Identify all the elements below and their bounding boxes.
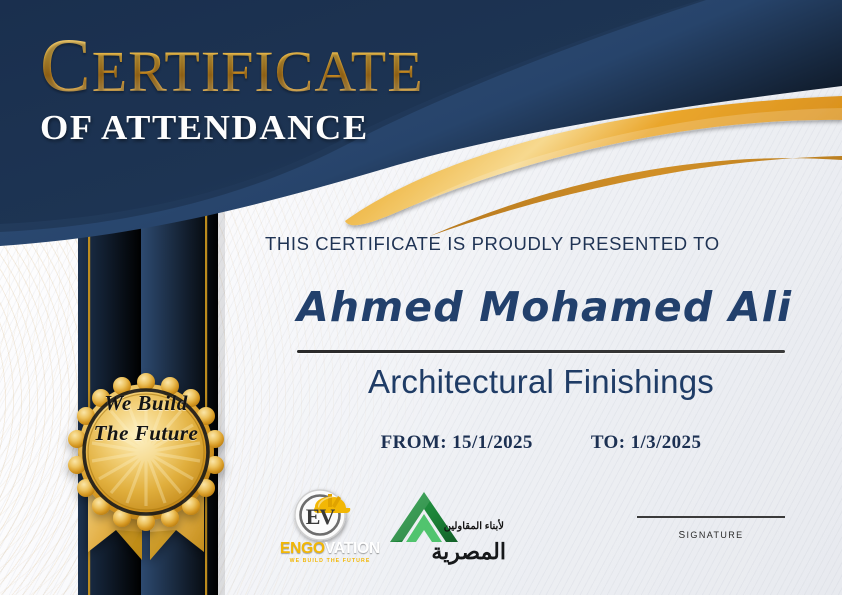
title-certificate: CERTIFICATE (40, 28, 424, 104)
logo-row: ENGOVATION WE BUILD THE FUTURE لأبناء ال… (278, 483, 504, 567)
certificate-heading: CERTIFICATE OF ATTENDANCE (40, 28, 424, 148)
engovation-wordmark-part2: VATION (325, 540, 380, 557)
engovation-wordmark-part1: ENGO (280, 540, 325, 557)
elmasreya-arabic-large: المصرية (431, 541, 506, 563)
presented-to-label: THIS CERTIFICATE IS PROUDLY PRESENTED TO (265, 233, 720, 255)
course-title: Architectural Finishings (297, 363, 785, 401)
engovation-logo: ENGOVATION WE BUILD THE FUTURE (278, 483, 382, 567)
course-dates: FROM: 15/1/2025 TO: 1/3/2025 (297, 432, 785, 454)
seal-motto-line2: The Future (66, 418, 226, 448)
signature-line (637, 516, 785, 518)
seal-motto-line1: We Build (66, 388, 226, 418)
recipient-name-underline (297, 350, 785, 353)
engovation-tagline: WE BUILD THE FUTURE (278, 558, 382, 564)
title-dropcap: C (40, 24, 92, 108)
engovation-wordmark: ENGOVATION (278, 541, 382, 557)
title-certificate-rest: ERTIFICATE (92, 39, 424, 104)
elmasreya-arabic-small: لأبناء المقاولين (444, 521, 504, 532)
title-of-attendance: OF ATTENDANCE (40, 108, 439, 148)
recipient-name: Ahmed Mohamed Ali (297, 283, 787, 331)
date-from: FROM: 15/1/2025 (381, 432, 533, 454)
certificate-document: EV CERTIFICATE OF ATTENDANCE We Build Th… (0, 0, 842, 595)
signature-label: Signature (637, 526, 785, 542)
seal-motto: We Build The Future (66, 388, 226, 449)
elmasreya-logo: لأبناء المقاولين المصرية (396, 485, 504, 567)
seal-text-group: We Build The Future (66, 338, 226, 568)
date-to: TO: 1/3/2025 (591, 432, 702, 454)
